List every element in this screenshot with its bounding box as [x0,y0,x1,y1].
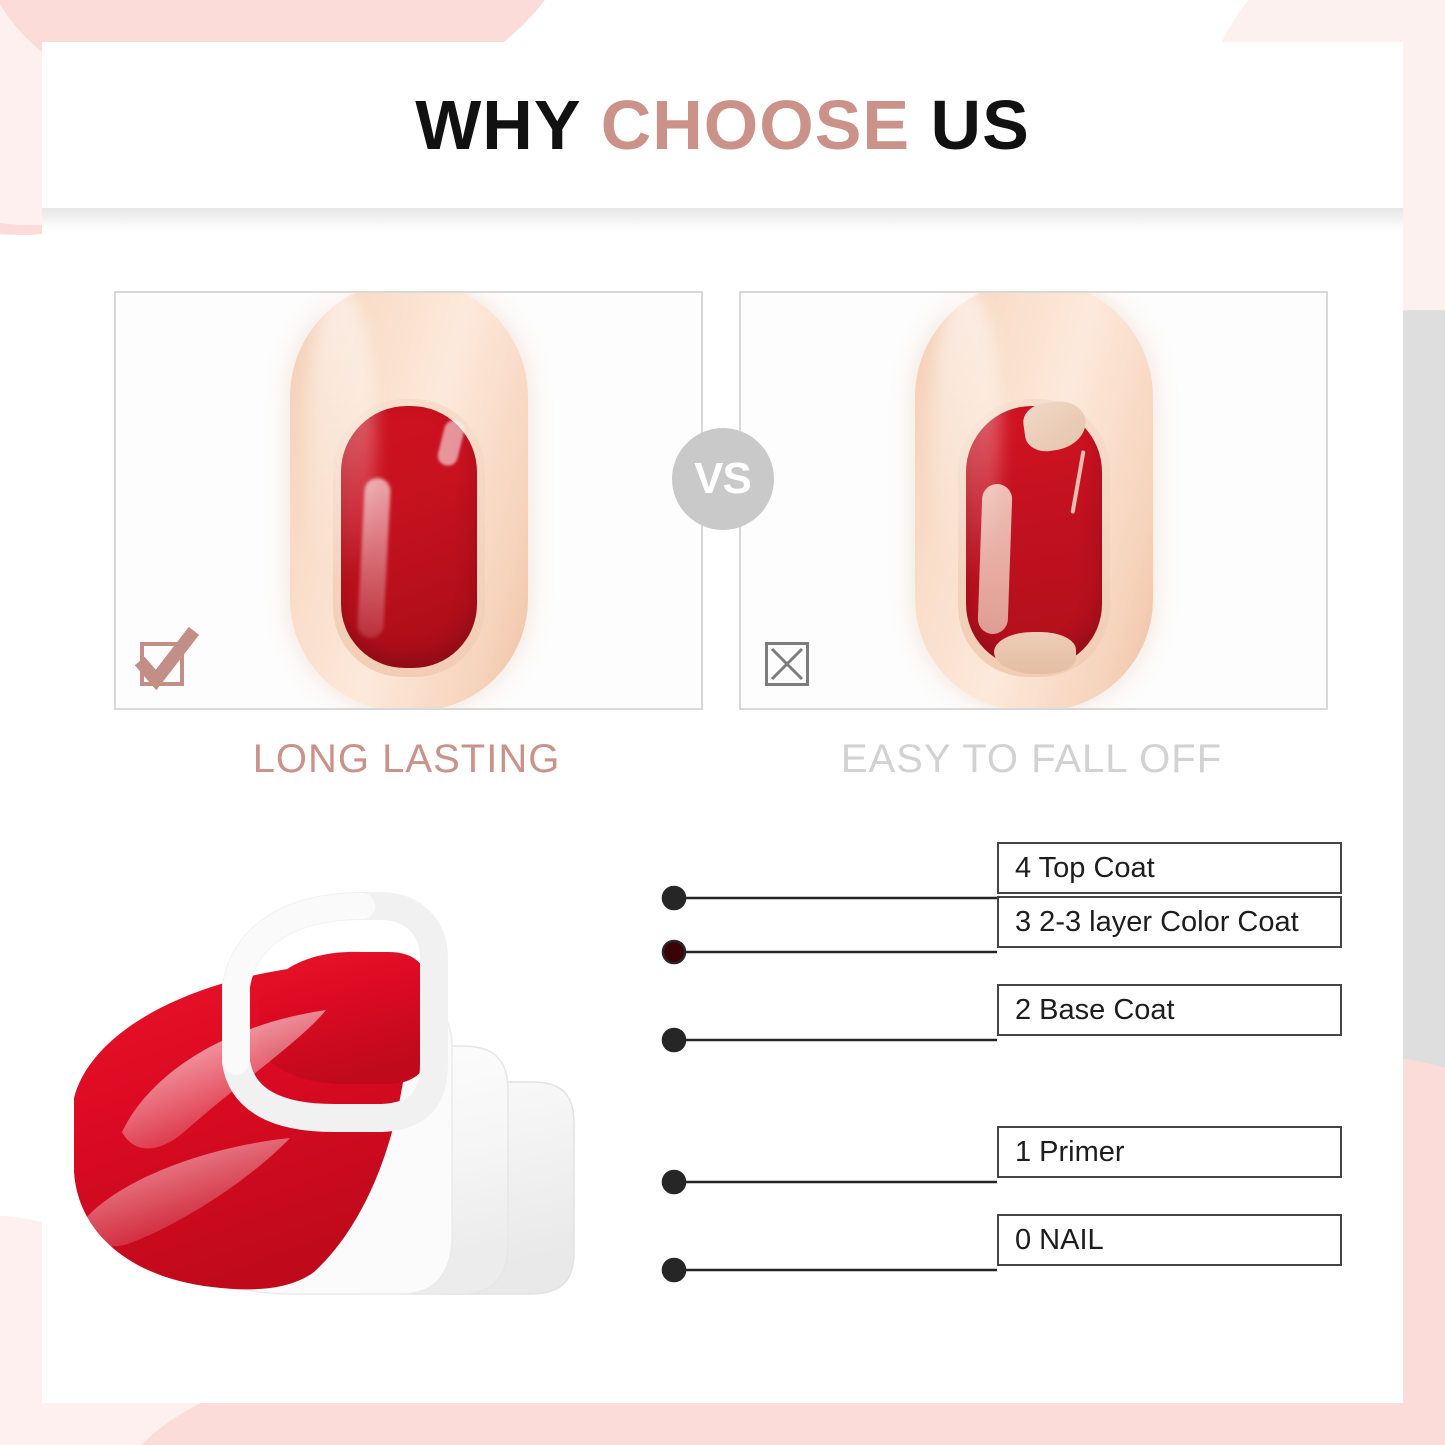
caption-good: LONG LASTING [114,737,699,782]
title-accent: CHOOSE [601,86,910,164]
fingertip-illustration-good [290,291,528,710]
title-part-1: WHY [415,86,601,164]
infographic-canvas: WHY CHOOSE US [0,0,1445,1445]
layer-shape-color-coat-top [258,952,430,1084]
layer-label-base-coat: 2 Base Coat [997,984,1342,1036]
layer-label-primer: 1 Primer [997,1126,1342,1178]
page-title: WHY CHOOSE US [415,85,1030,165]
status-badge-good [140,642,184,686]
title-part-2: US [910,86,1030,164]
layer-label-list: 4 Top Coat 3 2-3 layer Color Coat 2 Base… [997,832,1347,1302]
chip-area-tip [994,632,1076,674]
header-divider [42,208,1403,230]
gloss-highlight-secondary [435,418,466,467]
caption-bad: EASY TO FALL OFF [739,737,1324,782]
versus-badge: VS [672,428,774,530]
fingertip-illustration-bad [915,291,1153,710]
nail-layer-illustration [62,832,962,1302]
comparison-panel-good [114,291,703,710]
polish-crack [1070,450,1085,514]
chip-area-top [1020,398,1088,454]
cross-mark-icon [765,642,809,686]
content-card: WHY CHOOSE US [42,42,1403,1403]
layer-label-color-coat: 3 2-3 layer Color Coat [997,896,1342,948]
layer-label-top-coat: 4 Top Coat [997,842,1342,894]
comparison-panel-bad [739,291,1328,710]
nail-polish-chipped [966,406,1102,668]
check-mark-icon [134,632,198,692]
layer-label-nail: 0 NAIL [997,1214,1342,1266]
gloss-highlight-primary [356,477,390,638]
nail-polish-intact [341,406,477,668]
layer-diagram-section: 4 Top Coat 3 2-3 layer Color Coat 2 Base… [42,832,1403,1362]
layer-cross-section-svg [62,832,962,1302]
comparison-section: VS LONG LASTING EASY TO FALL OFF [42,247,1403,807]
status-badge-bad [765,642,809,686]
header: WHY CHOOSE US [42,42,1403,208]
chip-area-side [977,484,1012,635]
